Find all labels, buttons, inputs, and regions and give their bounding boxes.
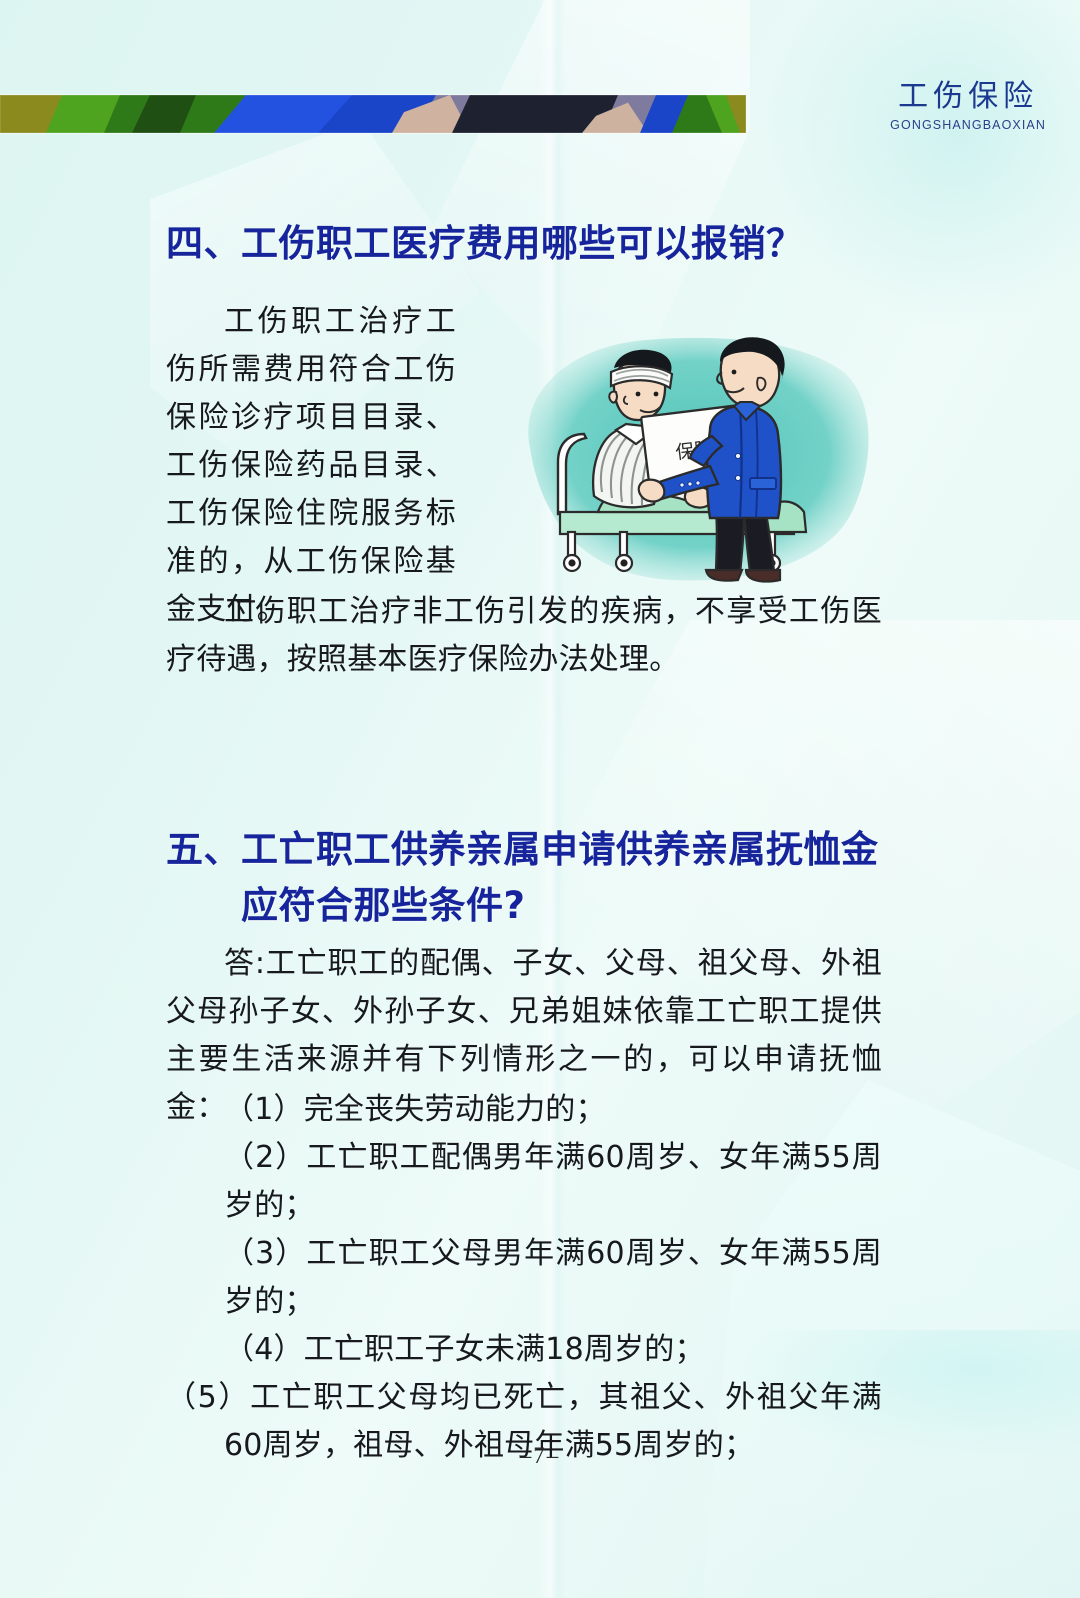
hospital-patient-illustration: 保险 <box>494 326 886 594</box>
page-background: 工伤保险 GONGSHANGBAOXIAN 四、工伤职工医疗费用哪些可以报销？ … <box>0 0 1080 1598</box>
section-5-heading-line-1: 五、工亡职工供养亲属申请供养亲属抚恤金 <box>166 828 879 871</box>
page-number: –7– <box>0 1443 1080 1469</box>
section-4-heading: 四、工伤职工医疗费用哪些可以报销？ <box>166 216 804 272</box>
list-item: （3）工亡职工父母男年满60周岁、女年满55周岁的； <box>166 1230 882 1326</box>
list-item: （1）完全丧失劳动能力的； <box>166 1086 882 1134</box>
list-item: （4）工亡职工子女未满18周岁的； <box>166 1326 882 1374</box>
section-4-paragraph-2: 工伤职工治疗非工伤引发的疾病，不享受工伤医疗待遇，按照基本医疗保险办法处理。 <box>166 588 882 684</box>
section-5-heading-line-2: 应符合那些条件? <box>166 878 926 934</box>
section-5-condition-list: （1）完全丧失劳动能力的； （2）工亡职工配偶男年满60周岁、女年满55周岁的；… <box>166 1086 882 1470</box>
document-content: 四、工伤职工医疗费用哪些可以报销？ 工伤职工治疗工伤所需费用符合工伤保险诊疗项目… <box>0 0 1080 1598</box>
list-item: （2）工亡职工配偶男年满60周岁、女年满55周岁的； <box>166 1134 882 1230</box>
section-5-heading: 五、工亡职工供养亲属申请供养亲属抚恤金 应符合那些条件? <box>166 822 926 934</box>
section-4-paragraph-1: 工伤职工治疗工伤所需费用符合工伤保险诊疗项目目录、工伤保险药品目录、工伤保险住院… <box>166 298 456 634</box>
